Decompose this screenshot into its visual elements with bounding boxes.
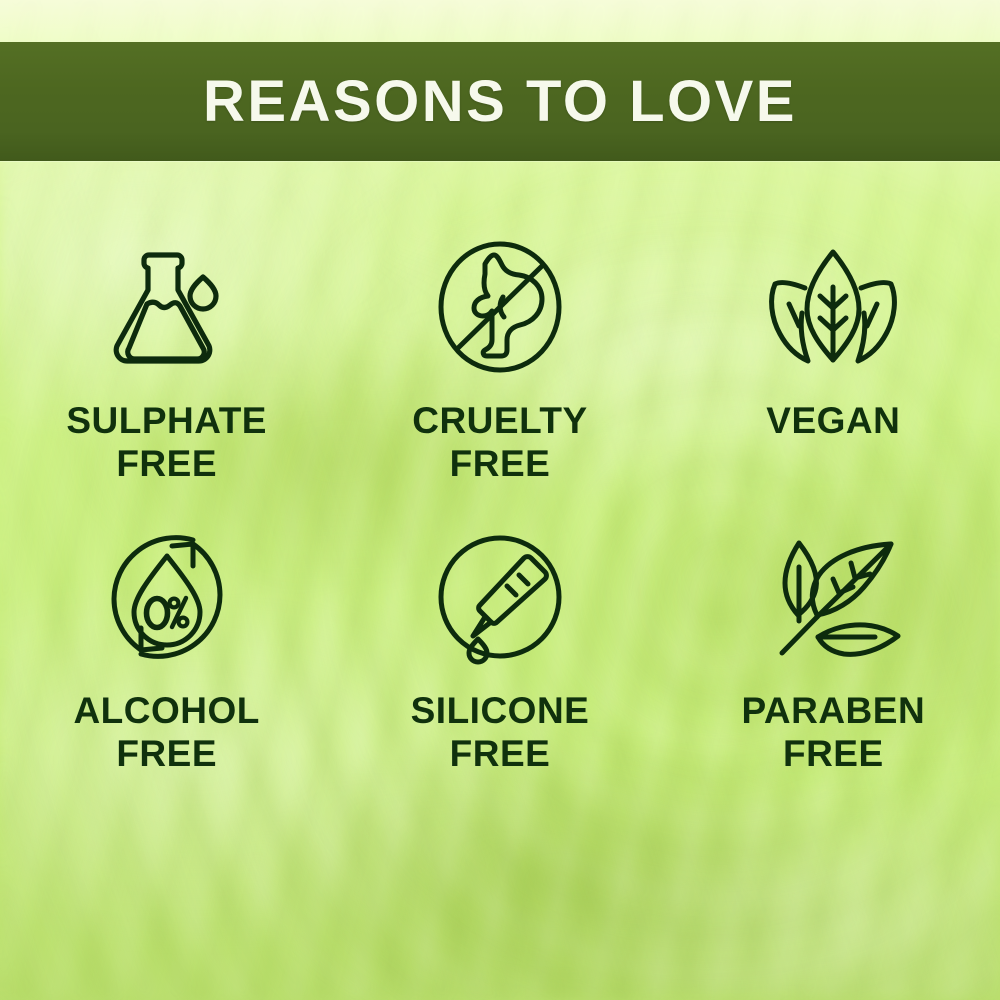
badge-paraben-free: PARABEN FREE <box>683 522 983 812</box>
no-animal-testing-icon <box>415 232 585 382</box>
badge-label-line1: VEGAN <box>766 400 900 441</box>
badge-silicone-free: SILICONE FREE <box>350 522 650 812</box>
badge-label-line2: FREE <box>741 733 925 776</box>
header-banner: REASONS TO LOVE <box>0 42 1000 161</box>
badge-vegan: VEGAN <box>683 232 983 522</box>
badge-label-line2: FREE <box>411 733 590 776</box>
badge-label-line1: PARABEN <box>741 690 925 731</box>
badge-label-line2: FREE <box>412 443 587 486</box>
badge-label: CRUELTY FREE <box>412 400 587 486</box>
leaf-branch-icon <box>748 522 918 672</box>
three-leaves-icon <box>748 232 918 382</box>
badge-sulphate-free: SULPHATE FREE <box>17 232 317 522</box>
page-title: REASONS TO LOVE <box>203 73 797 131</box>
badge-cruelty-free: CRUELTY FREE <box>350 232 650 522</box>
benefits-grid: SULPHATE FREE CRUELTY FREE <box>0 232 1000 812</box>
badge-label-line1: SILICONE <box>411 690 590 731</box>
badge-alcohol-free: ALCOHOL FREE <box>17 522 317 812</box>
promo-graphic: REASONS TO LOVE SULPHATE FREE <box>0 0 1000 1000</box>
badge-label-line2: FREE <box>73 733 259 776</box>
dropper-pipette-icon <box>415 522 585 672</box>
badge-label: ALCOHOL FREE <box>73 690 259 776</box>
badge-label-line1: ALCOHOL <box>73 690 259 731</box>
badge-label-line2: FREE <box>66 443 267 486</box>
badge-label: SILICONE FREE <box>411 690 590 776</box>
badge-label: SULPHATE FREE <box>66 400 267 486</box>
badge-label: PARABEN FREE <box>741 690 925 776</box>
flask-droplet-icon <box>82 232 252 382</box>
badge-label-line1: CRUELTY <box>412 400 587 441</box>
badge-label-line1: SULPHATE <box>66 400 267 441</box>
zero-percent-droplet-icon <box>82 522 252 672</box>
badge-label: VEGAN <box>766 400 900 443</box>
